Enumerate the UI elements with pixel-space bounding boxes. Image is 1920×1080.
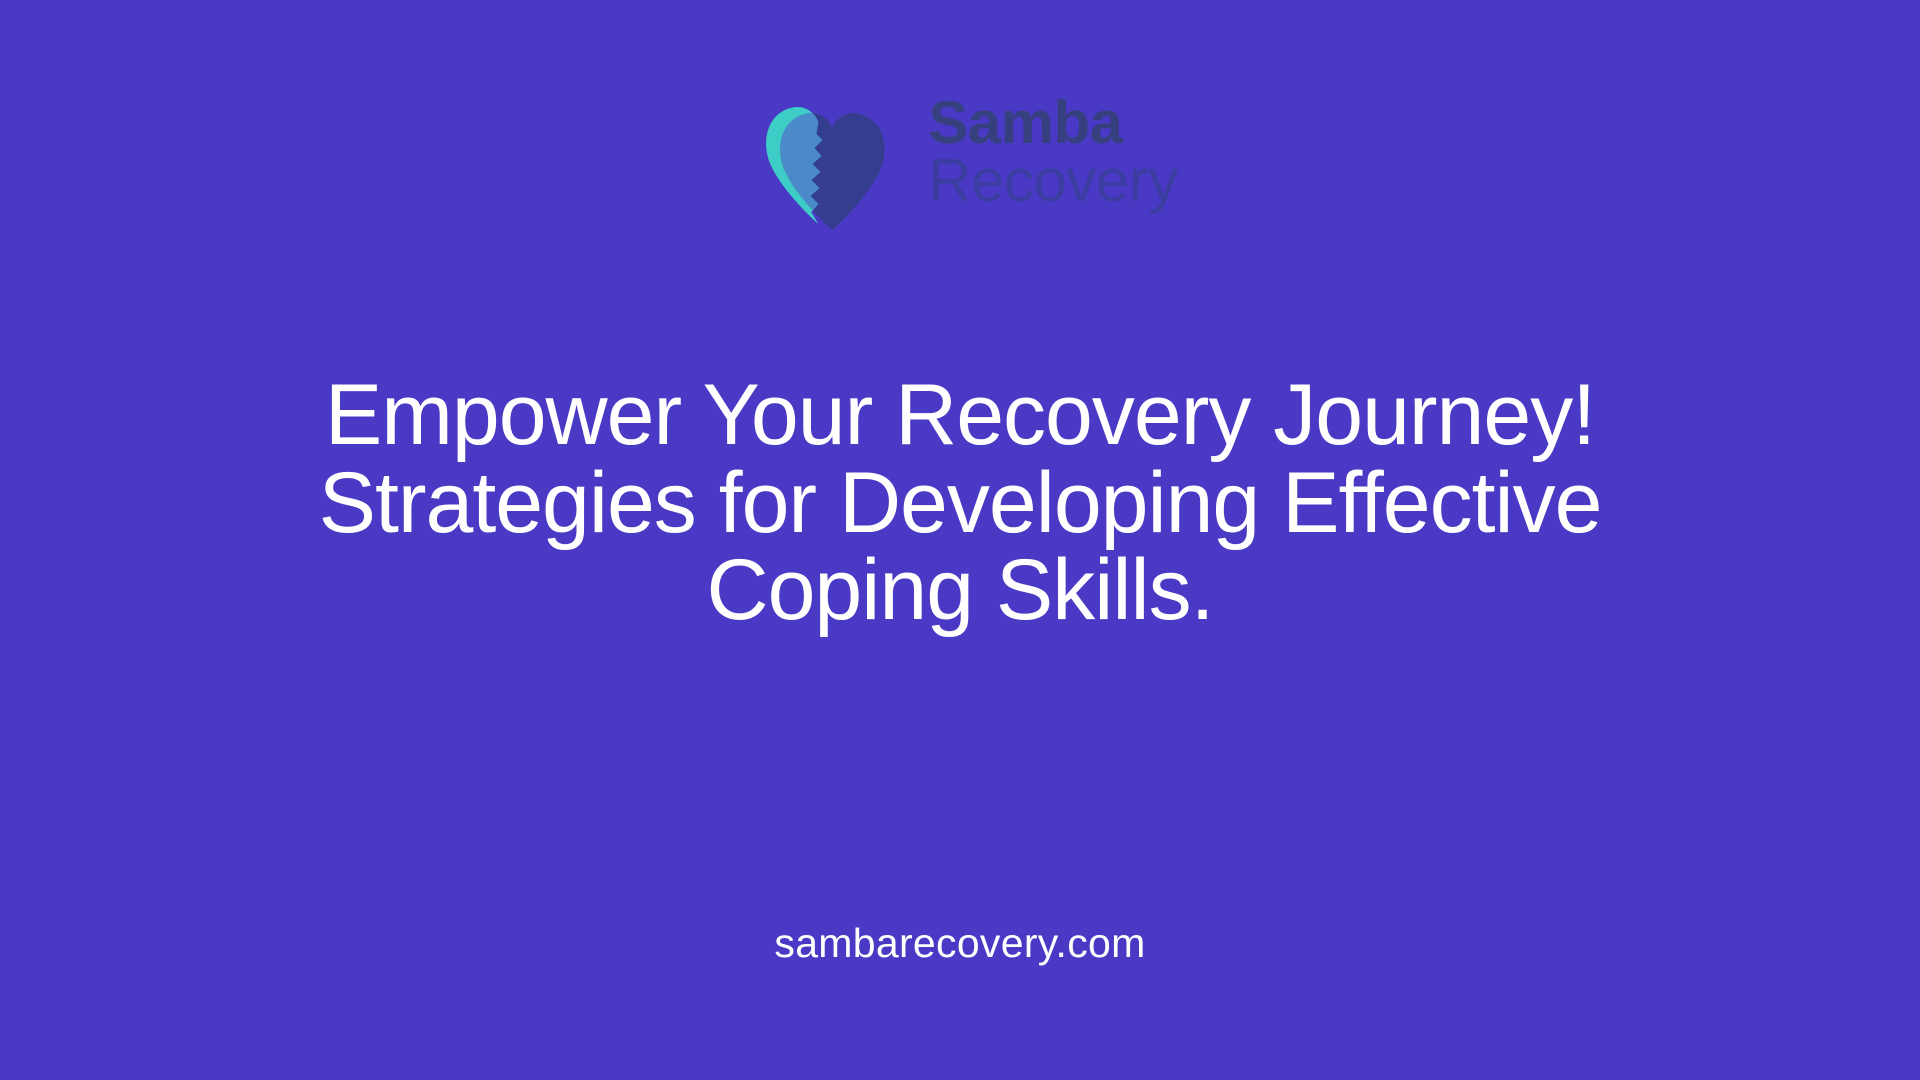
promo-slide: Samba Recovery Empower Your Recovery Jou… <box>0 0 1920 1080</box>
brand-name-secondary: Recovery <box>928 152 1177 210</box>
split-heart-icon <box>742 78 894 230</box>
brand-lockup: Samba Recovery <box>742 78 1177 230</box>
page-title: Empower Your Recovery Journey! Strategie… <box>260 372 1660 635</box>
brand-wordmark: Samba Recovery <box>928 94 1177 214</box>
site-url: sambarecovery.com <box>774 920 1145 967</box>
brand-name-primary: Samba <box>928 94 1177 152</box>
